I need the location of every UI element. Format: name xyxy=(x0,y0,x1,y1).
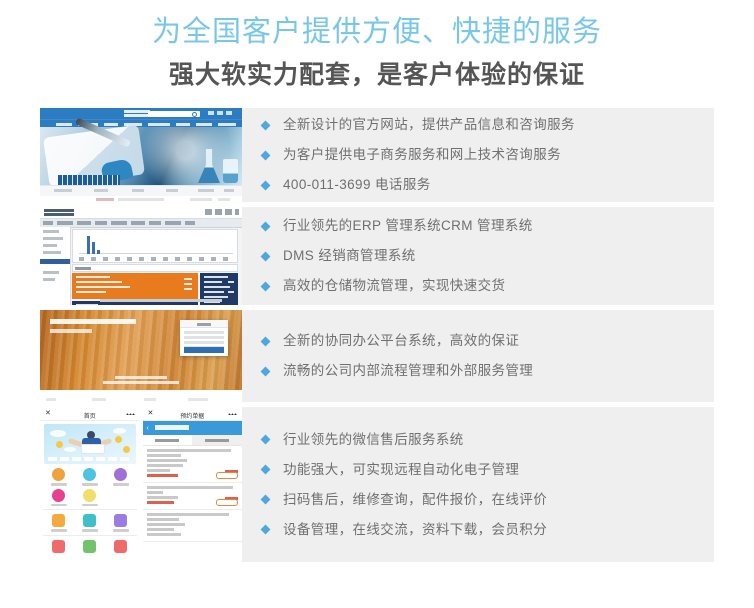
erp-user-menu xyxy=(205,209,239,215)
grid-item[interactable] xyxy=(43,468,74,486)
grid-icon xyxy=(83,489,96,502)
phone-order-list-screen: ✕ 预约单据 ‹ xyxy=(143,407,243,562)
grid-icon xyxy=(52,489,65,502)
oa-subheadline xyxy=(50,329,92,333)
feature-row-erp: 行业领先的ERP 管理系统CRM 管理系统 DMS 经销商管理系统 高效的仓储物… xyxy=(40,207,714,305)
blue-header-label xyxy=(155,425,189,430)
grid-icon xyxy=(83,540,96,553)
language-links xyxy=(208,111,234,115)
back-icon[interactable]: ‹ xyxy=(147,425,149,432)
wechat-miniprogram-screenshot: ✕ 首页 xyxy=(40,407,242,562)
erp-orange-panel xyxy=(72,273,198,299)
grid-icon xyxy=(114,468,127,481)
bullet-list-website: 全新设计的官方网站，提供产品信息和咨询服务 为客户提供电子商务服务和网上技术咨询… xyxy=(242,108,714,202)
promo-banner[interactable] xyxy=(44,424,136,464)
tab-completed-orders[interactable] xyxy=(192,435,242,445)
list-item-label: 扫码售后，维修查询，配件报价，在线评价 xyxy=(283,485,547,515)
feature-rows: 全新设计的官方网站，提供产品信息和咨询服务 为客户提供电子商务服务和网上技术咨询… xyxy=(0,108,754,562)
list-item: 设备管理，在线交流，资料下载，会员积分 xyxy=(262,515,702,545)
list-item-label: DMS 经销商管理系统 xyxy=(283,241,416,271)
list-item: DMS 经销商管理系统 xyxy=(262,241,702,271)
list-item[interactable] xyxy=(143,510,243,542)
oa-footer-text xyxy=(93,376,189,386)
grid-item-empty xyxy=(105,489,136,507)
erp-subheader xyxy=(72,264,238,272)
erp-footer-note xyxy=(100,299,222,302)
grid-item[interactable] xyxy=(43,514,74,532)
service-icon-grid xyxy=(43,514,137,532)
grid-icon xyxy=(83,468,96,481)
list-item-label: 400-011-3699 电话服务 xyxy=(283,170,431,200)
feature-row-oa: 全新的协同办公平台系统，高效的保证 流畅的公司内部流程管理和外部服务管理 xyxy=(40,310,714,402)
login-dialog-title xyxy=(180,320,228,328)
phone-nav-bar: ✕ 预约单据 xyxy=(143,407,243,421)
site-header-bar xyxy=(40,108,242,119)
diamond-bullet-icon xyxy=(261,495,271,505)
tab-all-orders[interactable] xyxy=(143,435,193,445)
bullet-list-oa: 全新的协同办公平台系统，高效的保证 流畅的公司内部流程管理和外部服务管理 xyxy=(242,310,714,402)
grid-icon xyxy=(52,468,65,481)
grid-item[interactable] xyxy=(43,489,74,507)
grid-item[interactable] xyxy=(43,540,74,553)
list-item: 为客户提供电子商务服务和网上技术咨询服务 xyxy=(262,140,702,170)
list-item-label: 全新设计的官方网站，提供产品信息和咨询服务 xyxy=(283,110,575,140)
list-item: 流畅的公司内部流程管理和外部服务管理 xyxy=(262,356,702,386)
erp-sidebar xyxy=(40,227,71,305)
oa-platform-login-screenshot xyxy=(40,310,242,402)
phone-home-screen: ✕ 首页 xyxy=(40,407,140,562)
oa-headline xyxy=(50,319,136,324)
feature-row-wechat: ✕ 首页 xyxy=(40,407,714,562)
grid-item[interactable] xyxy=(105,540,136,553)
feature-icon-grid xyxy=(43,468,137,506)
list-item-label: 流畅的公司内部流程管理和外部服务管理 xyxy=(283,356,533,386)
wood-background xyxy=(40,310,242,390)
list-item: 扫码售后，维修查询，配件报价，在线评价 xyxy=(262,485,702,515)
more-icon[interactable] xyxy=(126,413,135,415)
site-footer xyxy=(40,196,242,202)
grid-item[interactable] xyxy=(105,514,136,532)
list-item: 400-011-3699 电话服务 xyxy=(262,170,702,200)
list-item-label: 全新的协同办公平台系统，高效的保证 xyxy=(283,326,519,356)
diamond-bullet-icon xyxy=(261,150,271,160)
tab-bar xyxy=(143,435,243,446)
list-item[interactable] xyxy=(143,483,243,510)
erp-system-screenshot xyxy=(40,207,242,305)
list-item: 高效的仓储物流管理，实现快速交货 xyxy=(262,271,702,301)
grid-icon xyxy=(114,514,127,527)
page-header: 为全国客户提供方便、快捷的服务 强大软实力配套，是客户体验的保证 xyxy=(0,0,754,92)
erp-logo xyxy=(44,209,74,216)
diamond-bullet-icon xyxy=(261,180,271,190)
list-item-label: 设备管理，在线交流，资料下载，会员积分 xyxy=(283,515,547,545)
extra-icon-grid xyxy=(43,540,137,553)
grid-icon xyxy=(52,540,65,553)
corporate-website-screenshot xyxy=(40,108,242,202)
diamond-bullet-icon xyxy=(261,221,271,231)
list-item: 行业领先的微信售后服务系统 xyxy=(262,425,702,455)
list-item-label: 行业领先的微信售后服务系统 xyxy=(283,425,464,455)
phone-nav-bar: ✕ 首页 xyxy=(40,407,140,421)
divider xyxy=(43,509,137,510)
erp-title-bar xyxy=(40,207,242,219)
grid-item[interactable] xyxy=(74,468,105,486)
diamond-bullet-icon xyxy=(261,435,271,445)
diamond-bullet-icon xyxy=(261,366,271,376)
list-item-label: 功能强大，可实现远程自动化电子管理 xyxy=(283,455,519,485)
more-icon[interactable] xyxy=(228,413,237,415)
diamond-bullet-icon xyxy=(261,251,271,261)
erp-sidebar-selected xyxy=(40,259,70,264)
grid-icon xyxy=(114,540,127,553)
site-hero-lab-photo xyxy=(40,127,242,185)
login-dialog[interactable] xyxy=(180,320,228,356)
promo-page: 为全国客户提供方便、快捷的服务 强大软实力配套，是客户体验的保证 xyxy=(0,0,754,608)
grid-item[interactable] xyxy=(74,514,105,532)
site-logo xyxy=(124,110,150,117)
diamond-bullet-icon xyxy=(261,525,271,535)
list-item: 行业领先的ERP 管理系统CRM 管理系统 xyxy=(262,211,702,241)
site-category-tabs xyxy=(40,185,242,196)
list-item-label: 为客户提供电子商务服务和网上技术咨询服务 xyxy=(283,140,561,170)
blue-header-bar: ‹ xyxy=(143,421,243,435)
divider xyxy=(43,535,137,536)
page-subtitle: 强大软实力配套，是客户体验的保证 xyxy=(0,58,754,92)
list-item: 功能强大，可实现远程自动化电子管理 xyxy=(262,455,702,485)
erp-chart-panel xyxy=(72,229,238,263)
diamond-bullet-icon xyxy=(261,465,271,475)
grid-icon xyxy=(52,514,65,527)
diamond-bullet-icon xyxy=(261,336,271,346)
grid-item[interactable] xyxy=(74,540,105,553)
search-icon xyxy=(148,111,200,117)
bullet-list-wechat: 行业领先的微信售后服务系统 功能强大，可实现远程自动化电子管理 扫码售后，维修查… xyxy=(242,407,714,562)
diamond-bullet-icon xyxy=(261,281,271,291)
list-item-label: 高效的仓储物流管理，实现快速交货 xyxy=(283,271,505,301)
page-title: 为全国客户提供方便、快捷的服务 xyxy=(0,14,754,50)
diamond-bullet-icon xyxy=(261,120,271,130)
list-item-label: 行业领先的ERP 管理系统CRM 管理系统 xyxy=(283,211,533,241)
list-item[interactable] xyxy=(143,446,243,483)
grid-icon xyxy=(83,514,96,527)
bullet-list-erp: 行业领先的ERP 管理系统CRM 管理系统 DMS 经销商管理系统 高效的仓储物… xyxy=(242,207,714,305)
feature-row-website: 全新设计的官方网站，提供产品信息和咨询服务 为客户提供电子商务服务和网上技术咨询… xyxy=(40,108,714,202)
oa-below-strip xyxy=(40,392,242,402)
grid-item[interactable] xyxy=(105,468,136,486)
list-item: 全新的协同办公平台系统，高效的保证 xyxy=(262,326,702,356)
list-item: 全新设计的官方网站，提供产品信息和咨询服务 xyxy=(262,110,702,140)
grid-item[interactable] xyxy=(74,489,105,507)
login-submit-button[interactable] xyxy=(184,347,224,353)
